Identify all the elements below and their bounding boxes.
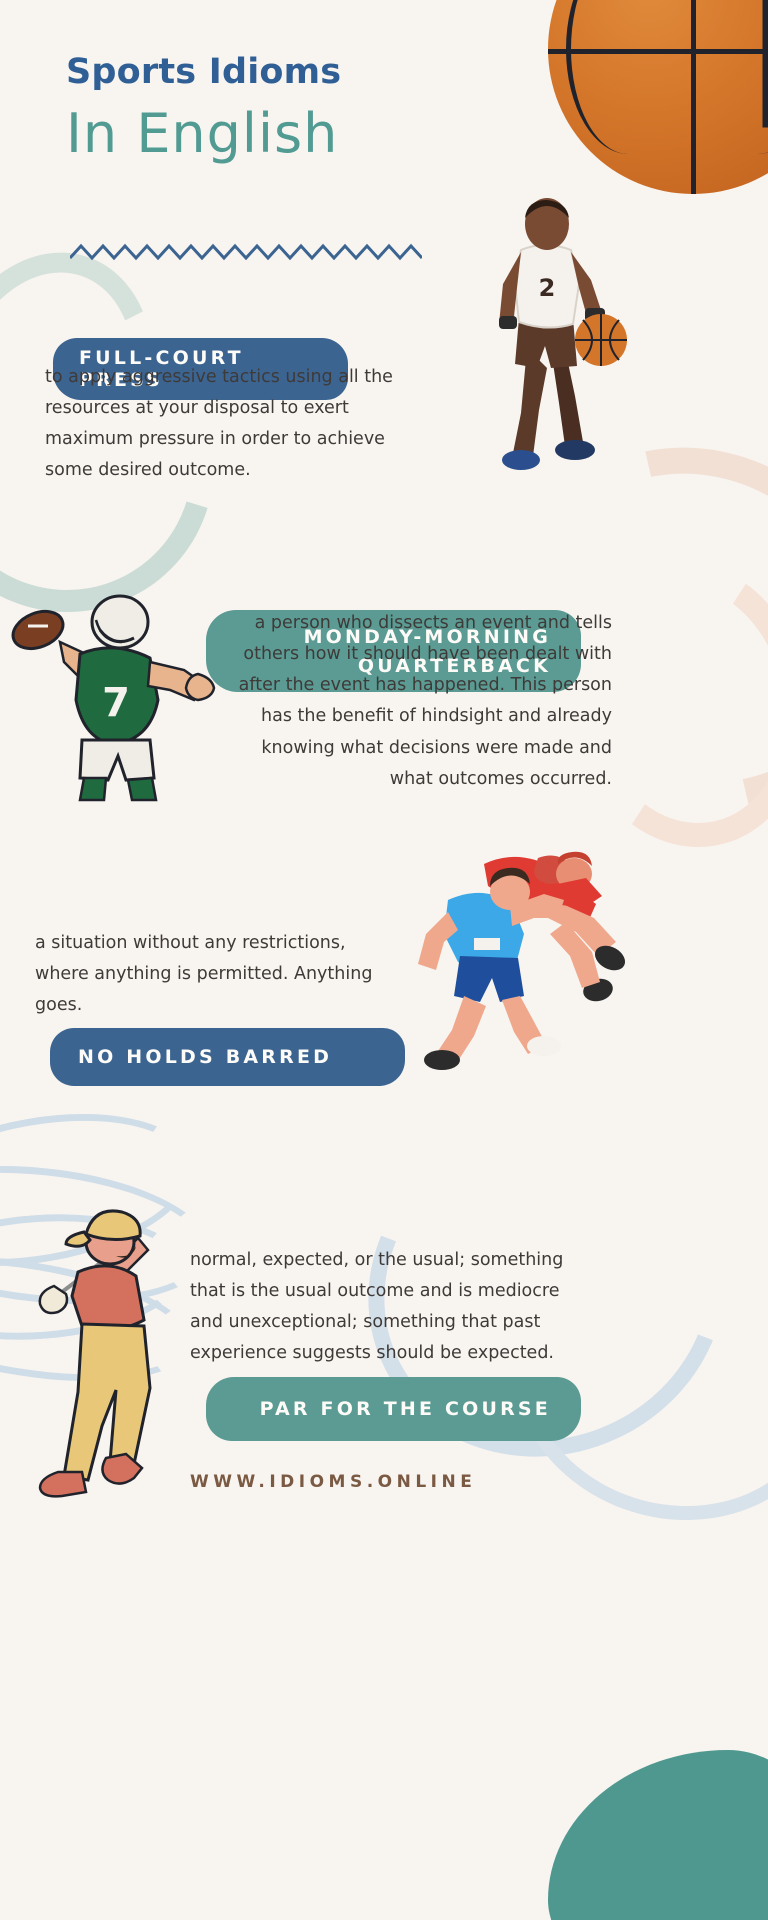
wrestlers-illustration — [388, 830, 633, 1070]
basketball-player-illustration: 2 — [455, 188, 635, 478]
page-subtitle: In English — [66, 102, 338, 165]
zigzag-divider-icon — [70, 240, 422, 264]
idiom-definition-par-for-the-course: normal, expected, or the usual; somethin… — [190, 1245, 590, 1370]
basketball-decoration — [548, 0, 768, 194]
idiom-term: NO HOLDS BARRED — [78, 1046, 332, 1068]
idiom-banner-no-holds-barred: NO HOLDS BARRED — [50, 1028, 405, 1086]
teal-blob-decoration — [548, 1750, 768, 1920]
football-quarterback-illustration: 7 — [8, 588, 223, 803]
idiom-definition-full-court-press: to apply aggressive tactics using all th… — [45, 362, 425, 487]
footer-website-url[interactable]: WWW.IDIOMS.ONLINE — [190, 1472, 476, 1492]
idiom-definition-no-holds-barred: a situation without any restrictions, wh… — [35, 928, 395, 1021]
svg-text:2: 2 — [539, 274, 556, 302]
blue-arc-decoration-2 — [474, 1186, 768, 1561]
idiom-banner-par-for-the-course: PAR FOR THE COURSE — [206, 1377, 581, 1441]
svg-text:7: 7 — [102, 680, 130, 726]
idiom-term: PAR FOR THE COURSE — [260, 1398, 551, 1420]
infographic-page: Sports Idioms In English 2 FULL-COURT PR… — [0, 0, 768, 1920]
golfer-illustration — [6, 1180, 216, 1510]
idiom-definition-monday-morning-quarterback: a person who dissects an event and tells… — [230, 608, 612, 795]
page-title: Sports Idioms — [66, 52, 341, 92]
